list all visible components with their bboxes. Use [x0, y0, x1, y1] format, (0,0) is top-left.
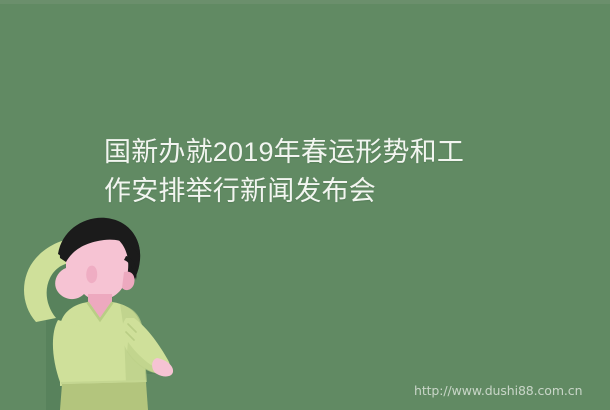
nose — [86, 266, 97, 283]
ear — [122, 272, 135, 290]
left-sleeve — [53, 320, 88, 384]
right-hand — [152, 358, 173, 376]
person-hand-behind-head-illustration — [0, 200, 190, 410]
site-watermark: http://www.dushi88.com.cn — [414, 383, 582, 399]
banner-top-band — [0, 0, 610, 4]
pants — [60, 382, 148, 410]
page-title: 国新办就2019年春运形势和工 作安排举行新闻发布会 — [104, 133, 534, 211]
news-banner: 国新办就2019年春运形势和工 作安排举行新闻发布会 http://www.du… — [0, 0, 610, 410]
